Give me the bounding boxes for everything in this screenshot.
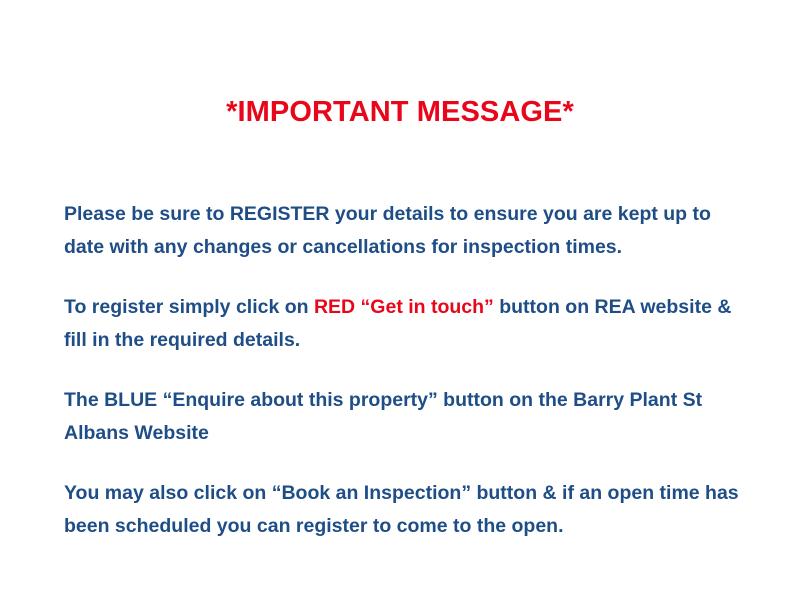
slide-canvas: *IMPORTANT MESSAGE* Please be sure to RE… (0, 0, 800, 600)
highlight-get-in-touch: RED “Get in touch” (314, 296, 494, 318)
slide-body: Please be sure to REGISTER your details … (64, 198, 744, 543)
paragraph-book-an-inspection: You may also click on “Book an Inspectio… (64, 477, 744, 543)
paragraph-text: The BLUE “Enquire about this property” b… (64, 389, 702, 444)
paragraph-blue-enquire-button: The BLUE “Enquire about this property” b… (64, 384, 744, 450)
paragraph-rea-get-in-touch: To register simply click on RED “Get in … (64, 291, 744, 357)
paragraph-text: To register simply click on (64, 296, 314, 318)
page-title: *IMPORTANT MESSAGE* (0, 96, 800, 129)
paragraph-text: Please be sure to REGISTER your details … (64, 203, 711, 258)
paragraph-text: You may also click on “Book an Inspectio… (64, 482, 739, 537)
paragraph-register-details: Please be sure to REGISTER your details … (64, 198, 744, 264)
